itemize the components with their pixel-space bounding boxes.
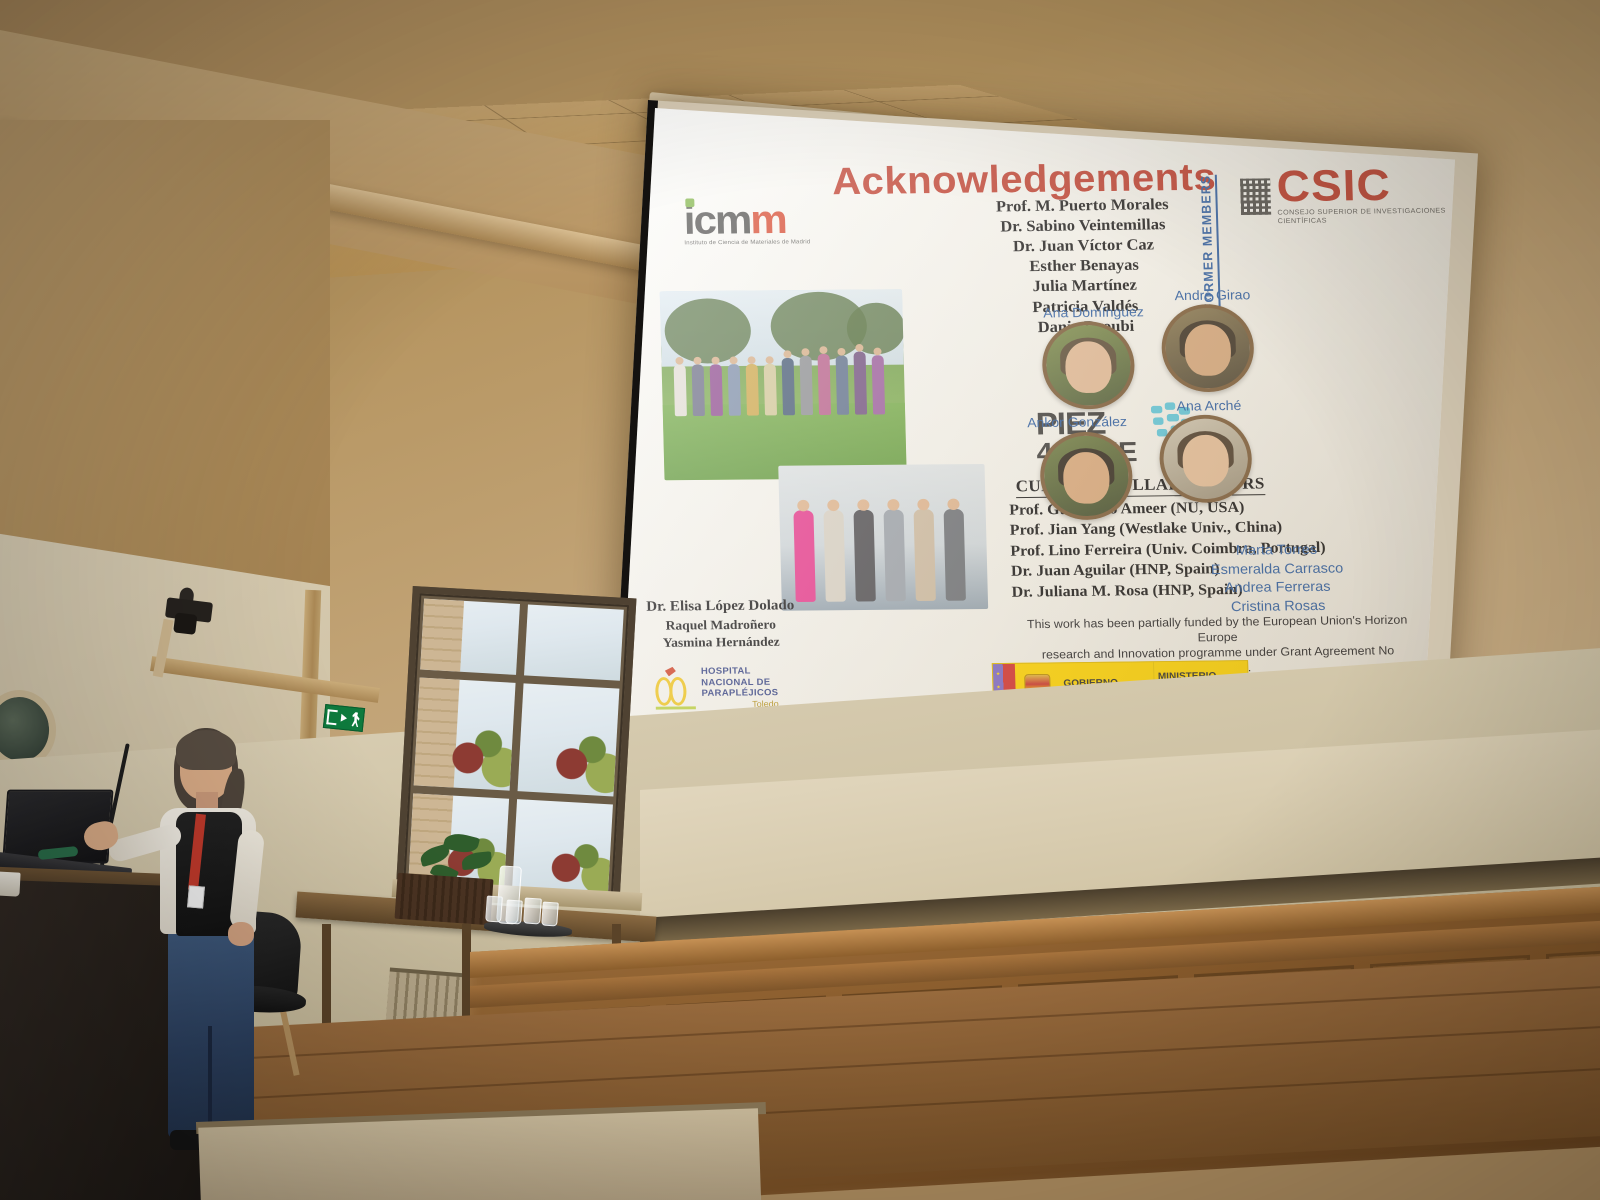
csic-subtitle: CONSEJO SUPERIOR DE INVESTIGACIONES CIEN… xyxy=(1277,206,1453,225)
hnp-logo-line3: PARAPLÉJICOS xyxy=(701,688,778,700)
hnp-logo-line1: HOSPITAL xyxy=(701,666,778,678)
icmm-letter-m1: m xyxy=(714,197,751,242)
team-name: Prof. M. Puerto Morales xyxy=(996,194,1169,217)
csic-logo: CSIC CONSEJO SUPERIOR DE INVESTIGACIONES… xyxy=(1240,165,1454,226)
icmm-subtitle: Instituto de Ciencia de Materiales de Ma… xyxy=(684,239,810,246)
former-member-name: André Girao xyxy=(1174,287,1250,303)
former-member-name: Ankor González xyxy=(1027,414,1127,430)
icmm-letter-m2: m xyxy=(750,197,787,242)
group-photo-outdoor xyxy=(660,289,907,480)
former-members-names-list: Marta Torres Esmeralda Carrasco Andrea F… xyxy=(1210,541,1345,618)
former-member-name: Esmeralda Carrasco xyxy=(1211,560,1344,580)
hnp-name: Dr. Elisa López Dolado xyxy=(646,597,794,617)
team-name: Dr. Sabino Veintemillas xyxy=(996,214,1169,237)
cup xyxy=(0,871,21,896)
hospital-nacional-paraplejicos-logo: HOSPITAL NACIONAL DE PARAPLÉJICOS Toledo xyxy=(655,666,779,710)
group-photo-lab xyxy=(778,464,988,611)
wicker-planter xyxy=(395,873,494,926)
team-name: Esther Benayas xyxy=(997,254,1170,277)
former-member-name: Cristina Rosas xyxy=(1212,597,1345,617)
hnp-glyph-icon xyxy=(655,668,696,708)
csic-wordmark: CSIC xyxy=(1276,165,1453,207)
drinking-glass xyxy=(523,897,542,924)
drinking-glass xyxy=(505,899,523,924)
former-member-name: Marta Torres xyxy=(1210,541,1343,561)
former-member-name: Andrea Ferreras xyxy=(1211,579,1344,599)
hnp-name: Raquel Madroñero xyxy=(647,616,795,635)
former-member-name: Ana Domínguez xyxy=(1043,304,1144,320)
icmm-green-dot xyxy=(685,198,694,207)
lecture-hall-scene: Acknowledgements icmm Instituto de Cienc… xyxy=(0,0,1600,1200)
emergency-exit-icon xyxy=(323,704,365,732)
icmm-letter-c: c xyxy=(693,197,716,242)
drinking-glass xyxy=(485,895,503,922)
avatar xyxy=(1160,304,1255,393)
hnp-name: Yasmina Hernández xyxy=(647,633,795,652)
drinking-glass xyxy=(541,901,559,926)
team-name: Julia Martínez xyxy=(998,274,1171,297)
former-member-name: Ana Arché xyxy=(1176,397,1241,413)
video-camera-icon xyxy=(158,585,221,636)
icmm-logo: icmm Instituto de Ciencia de Materiales … xyxy=(683,201,810,246)
csic-emblem-icon xyxy=(1240,178,1271,215)
presenter xyxy=(130,726,280,1166)
team-name: Dr. Juan Víctor Caz xyxy=(997,234,1170,257)
hnp-names-list: Dr. Elisa López Dolado Raquel Madroñero … xyxy=(646,597,795,651)
hnp-logo-line2: NACIONAL DE xyxy=(701,677,778,689)
